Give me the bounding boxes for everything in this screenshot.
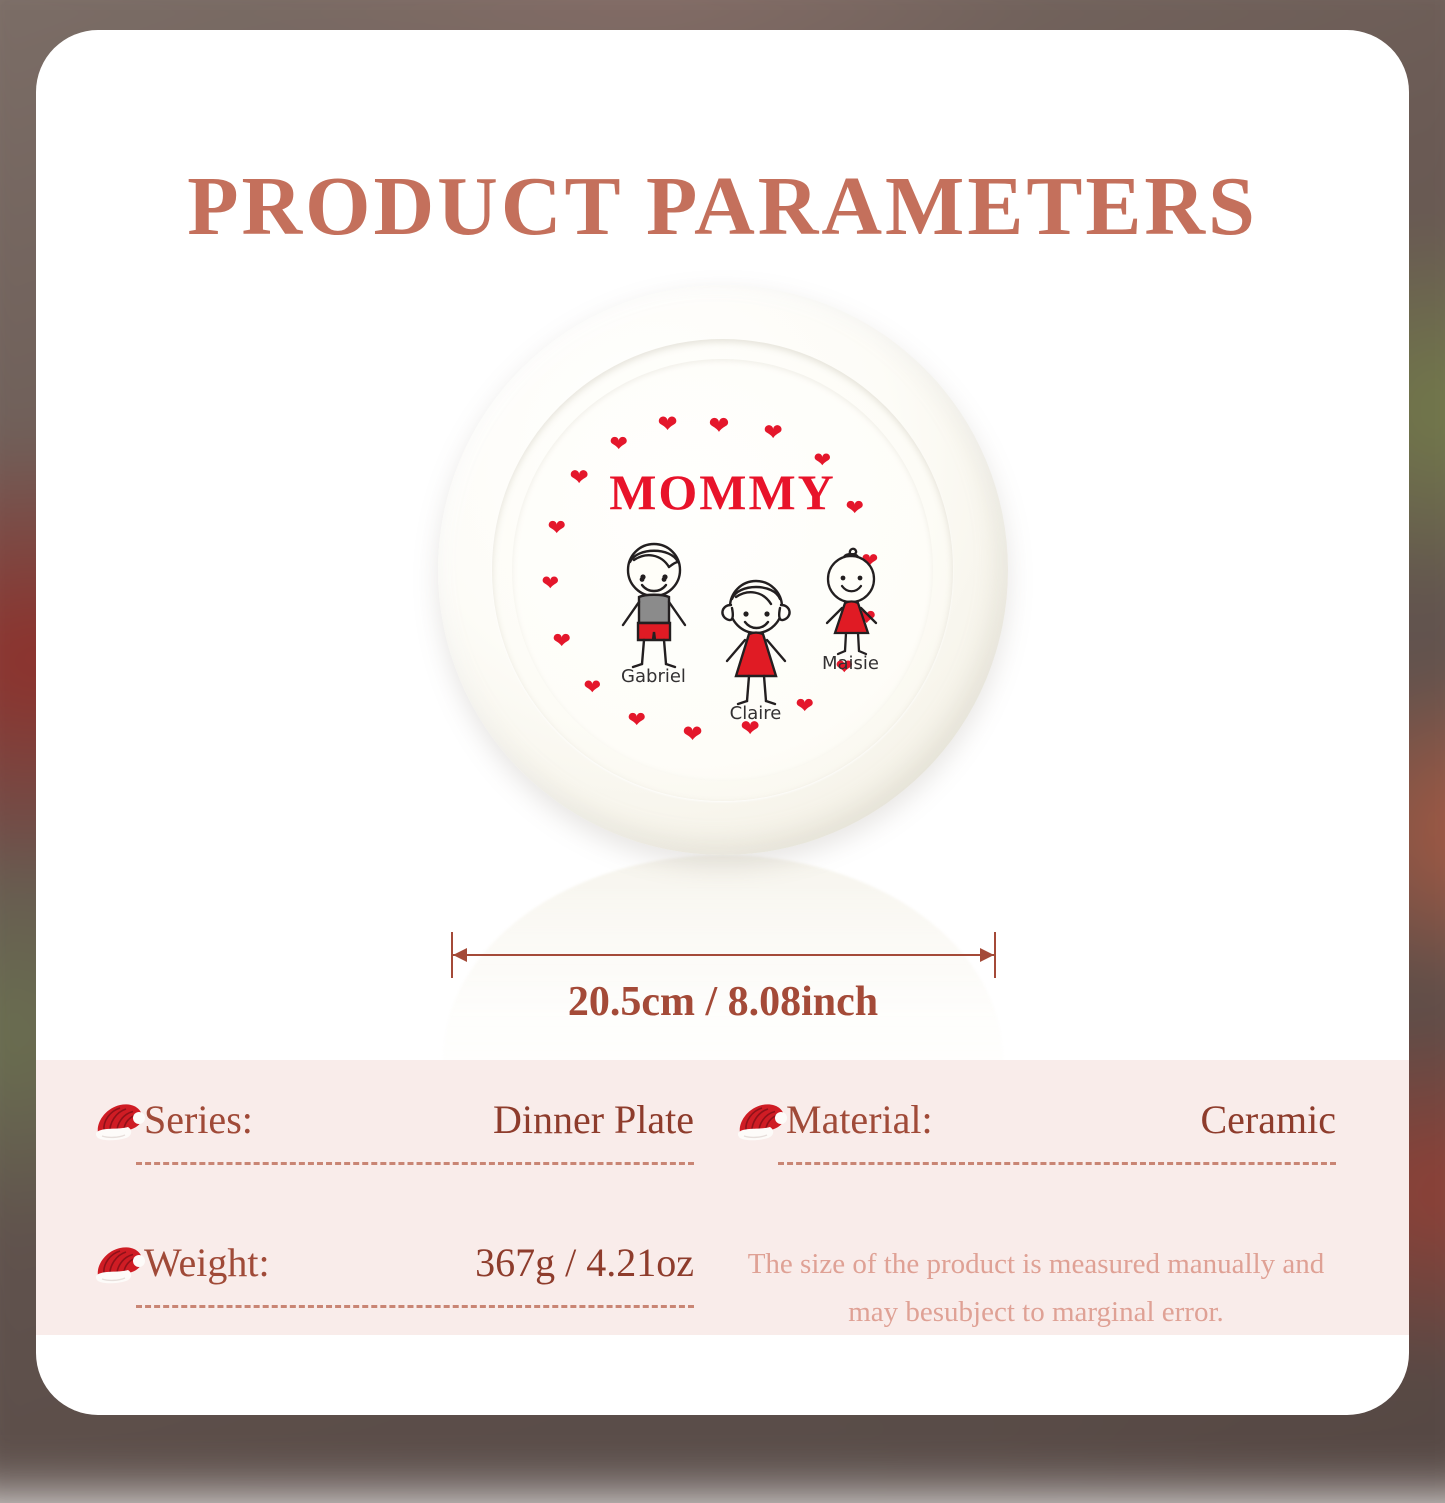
spec-label: Material: <box>786 1096 933 1143</box>
heart-icon: ❤ <box>628 709 646 731</box>
santa-hat-icon <box>736 1100 788 1142</box>
heart-icon: ❤ <box>846 497 864 519</box>
dimension-line <box>451 932 996 978</box>
spec-value: 367g / 4.21oz <box>475 1239 694 1286</box>
spec-item-series: Series: Dinner Plate <box>94 1094 694 1156</box>
spec-item-weight: Weight: 367g / 4.21oz <box>94 1237 694 1299</box>
dimension-end-cap-right <box>994 932 996 978</box>
plate-artwork: MOMMY ❤ ❤ ❤ ❤ ❤ ❤ ❤ ❤ ❤ ❤ ❤ ❤ ❤ ❤ ❤ ❤ ❤ … <box>438 285 1008 855</box>
spec-value: Dinner Plate <box>493 1096 694 1143</box>
spec-label: Series: <box>144 1096 253 1143</box>
spec-divider <box>778 1162 1336 1165</box>
dimension-arrowhead-right <box>980 948 994 962</box>
heart-icon: ❤ <box>814 450 832 471</box>
heart-icon: ❤ <box>548 517 566 539</box>
heart-icon: ❤ <box>709 414 730 439</box>
heart-icon: ❤ <box>542 573 560 594</box>
dimension-arrowhead-left <box>453 948 467 962</box>
claire-drawing <box>703 575 809 707</box>
spec-item-material: Material: Ceramic <box>736 1094 1336 1156</box>
santa-hat-icon <box>94 1100 146 1142</box>
dimension-annotation: 20.5cm / 8.08inch <box>451 910 996 1040</box>
heart-icon: ❤ <box>584 677 602 698</box>
plate-engraved-title: MOMMY <box>438 463 1008 521</box>
stick-figure-gabriel: Gabriel <box>601 540 707 688</box>
heart-icon: ❤ <box>658 413 678 437</box>
spec-value: Ceramic <box>1201 1096 1337 1143</box>
spec-divider <box>136 1305 694 1308</box>
heart-icon: ❤ <box>610 433 628 455</box>
page-title: PRODUCT PARAMETERS <box>36 158 1409 255</box>
stick-figure-claire: Claire <box>703 575 809 727</box>
heart-icon: ❤ <box>764 421 783 444</box>
spec-panel: Series: Dinner Plate <box>36 1060 1409 1335</box>
santa-hat-icon <box>94 1243 146 1285</box>
figure-name-label: Gabriel <box>621 666 686 687</box>
product-parameters-card: PRODUCT PARAMETERS MOMMY ❤ ❤ ❤ ❤ ❤ ❤ ❤ ❤… <box>36 30 1409 1415</box>
dimension-label: 20.5cm / 8.08inch <box>451 978 996 1026</box>
spec-divider <box>136 1162 694 1165</box>
product-image-stage: MOMMY ❤ ❤ ❤ ❤ ❤ ❤ ❤ ❤ ❤ ❤ ❤ ❤ ❤ ❤ ❤ ❤ ❤ … <box>36 285 1409 945</box>
maisie-drawing <box>801 543 901 661</box>
heart-icon: ❤ <box>683 723 703 747</box>
gabriel-drawing <box>601 540 707 670</box>
dimension-arrow-line <box>453 954 994 956</box>
dinner-plate: MOMMY ❤ ❤ ❤ ❤ ❤ ❤ ❤ ❤ ❤ ❤ ❤ ❤ ❤ ❤ ❤ ❤ ❤ … <box>438 285 1008 855</box>
figure-name-label: Maisie <box>822 653 879 674</box>
stick-figure-maisie: Maisie <box>801 543 901 683</box>
heart-icon: ❤ <box>570 466 589 489</box>
measurement-disclaimer: The size of the product is measured manu… <box>736 1241 1336 1337</box>
figure-name-label: Claire <box>730 703 782 724</box>
heart-icon: ❤ <box>553 630 571 652</box>
spec-label: Weight: <box>144 1239 270 1286</box>
